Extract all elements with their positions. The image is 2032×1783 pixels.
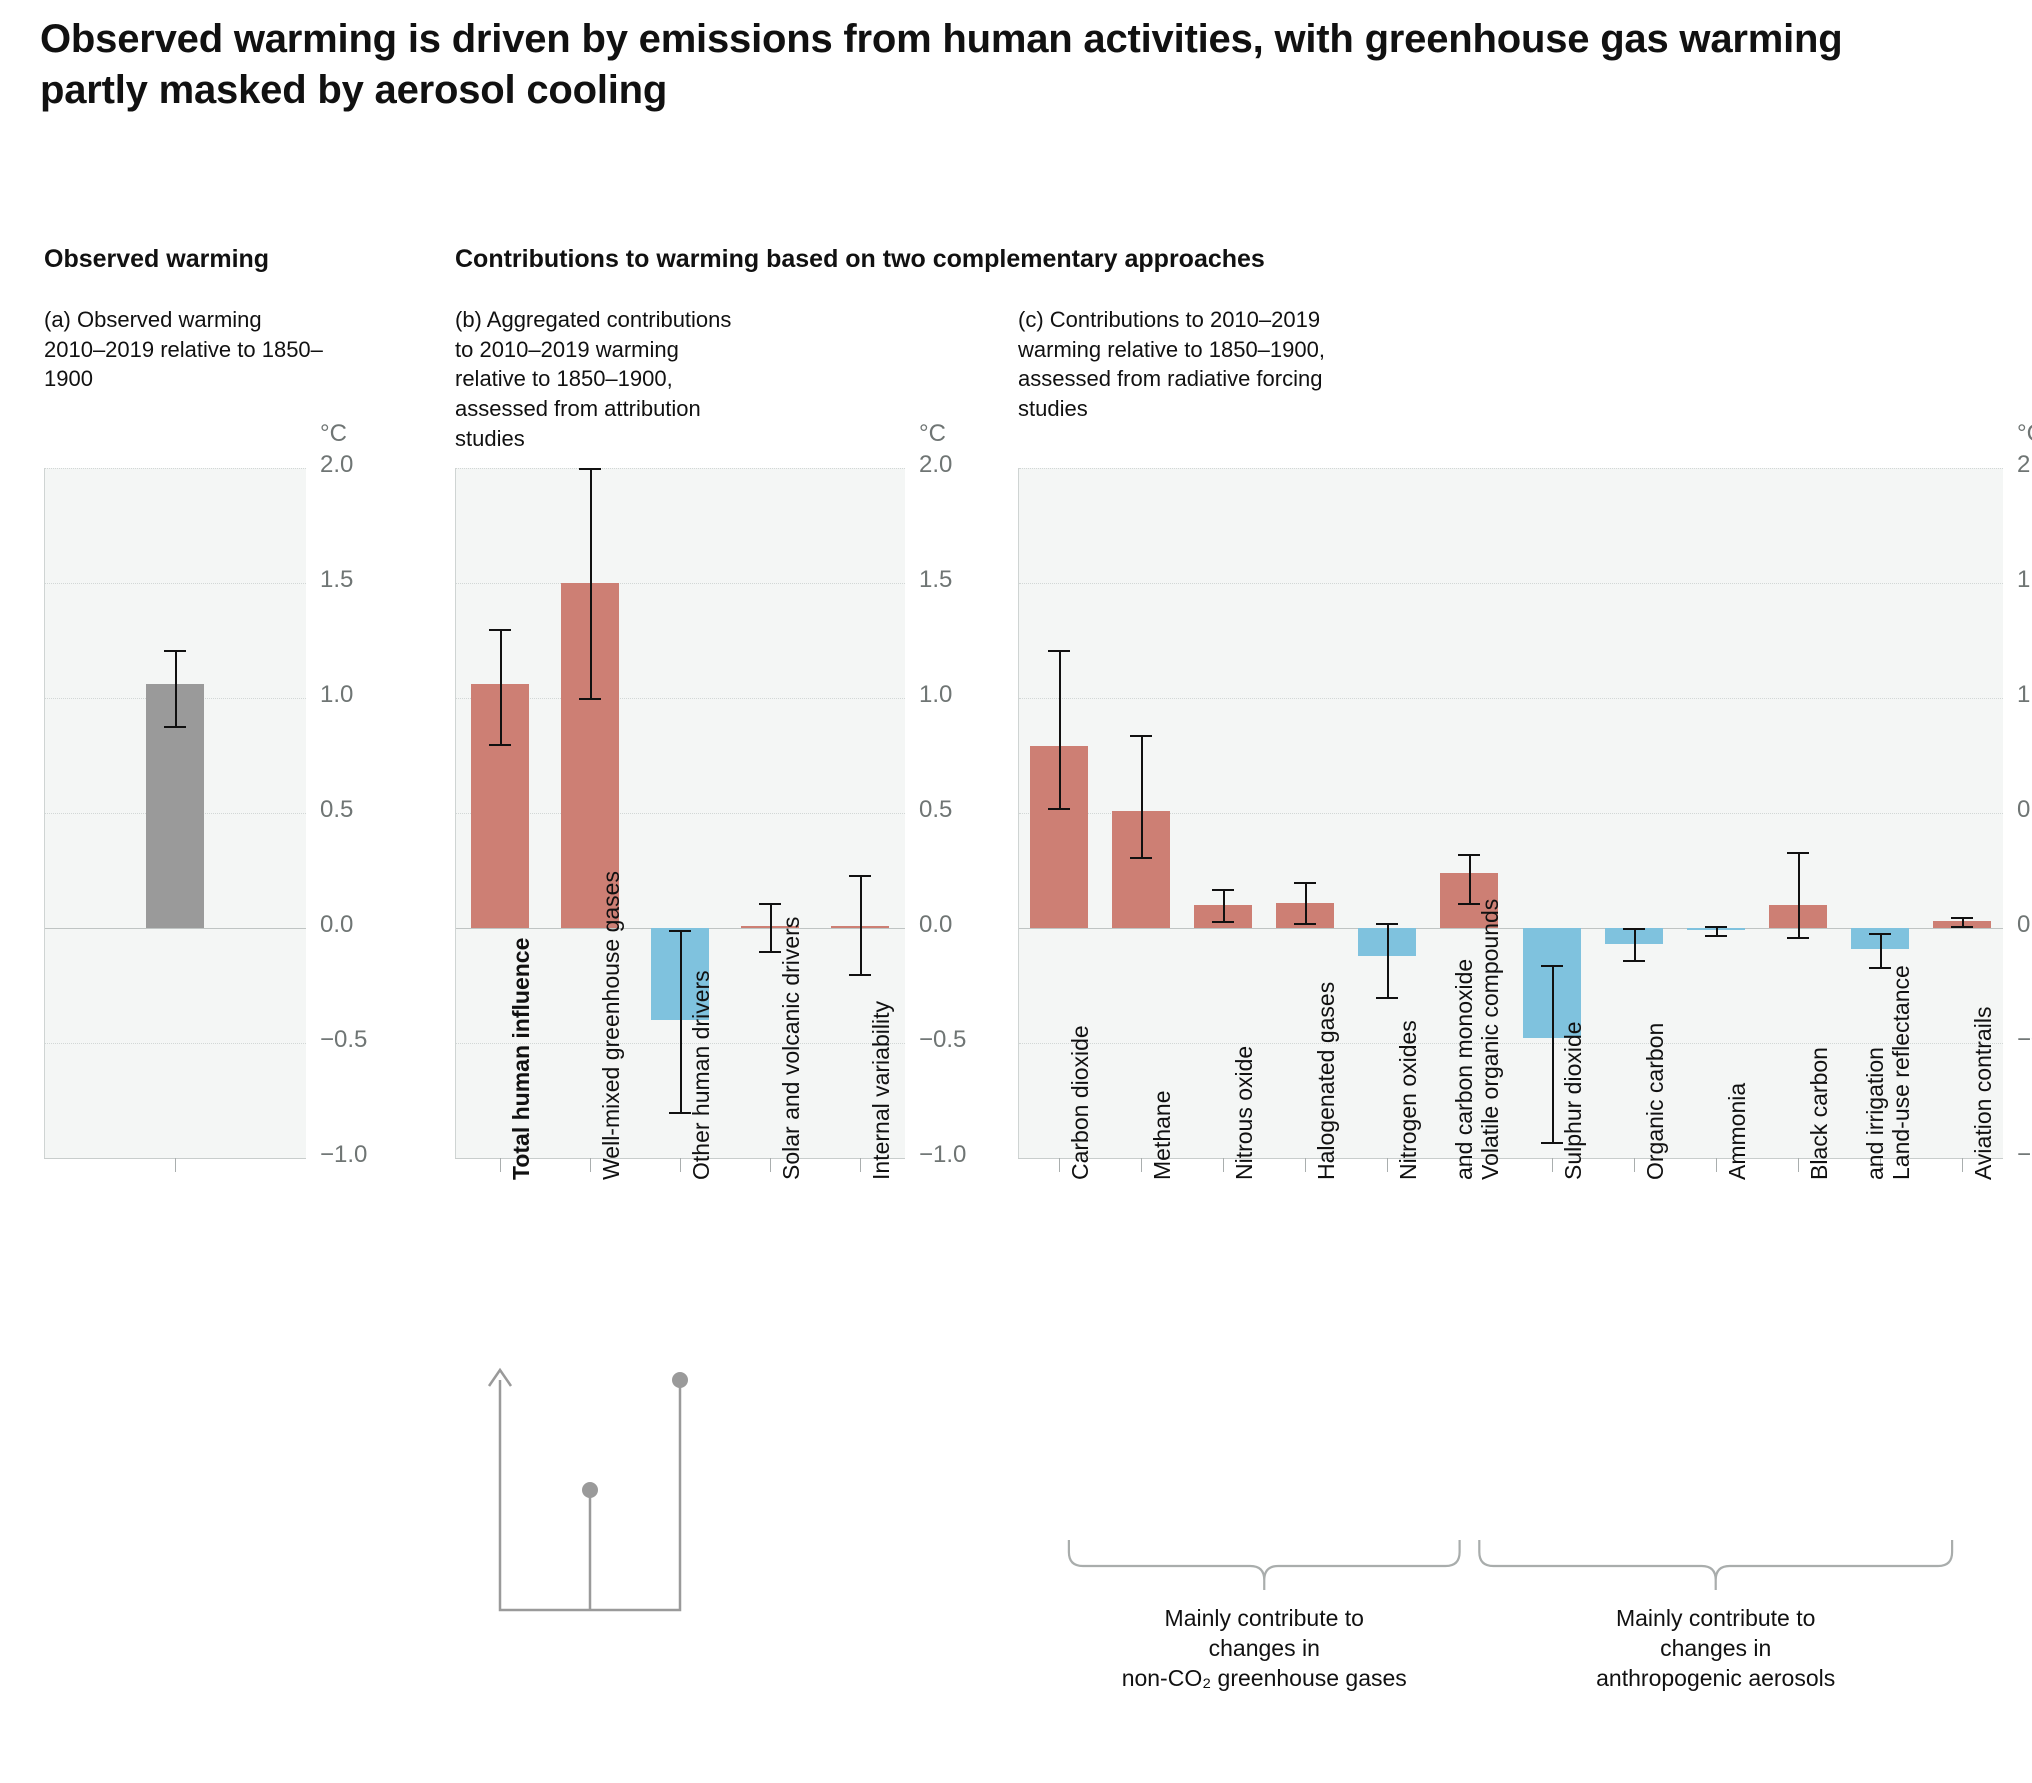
panel-c-bracket-annotations: Mainly contribute tochanges innon-CO₂ gr… <box>0 0 2032 1783</box>
panel-c-bracket-svg <box>0 0 2032 1783</box>
